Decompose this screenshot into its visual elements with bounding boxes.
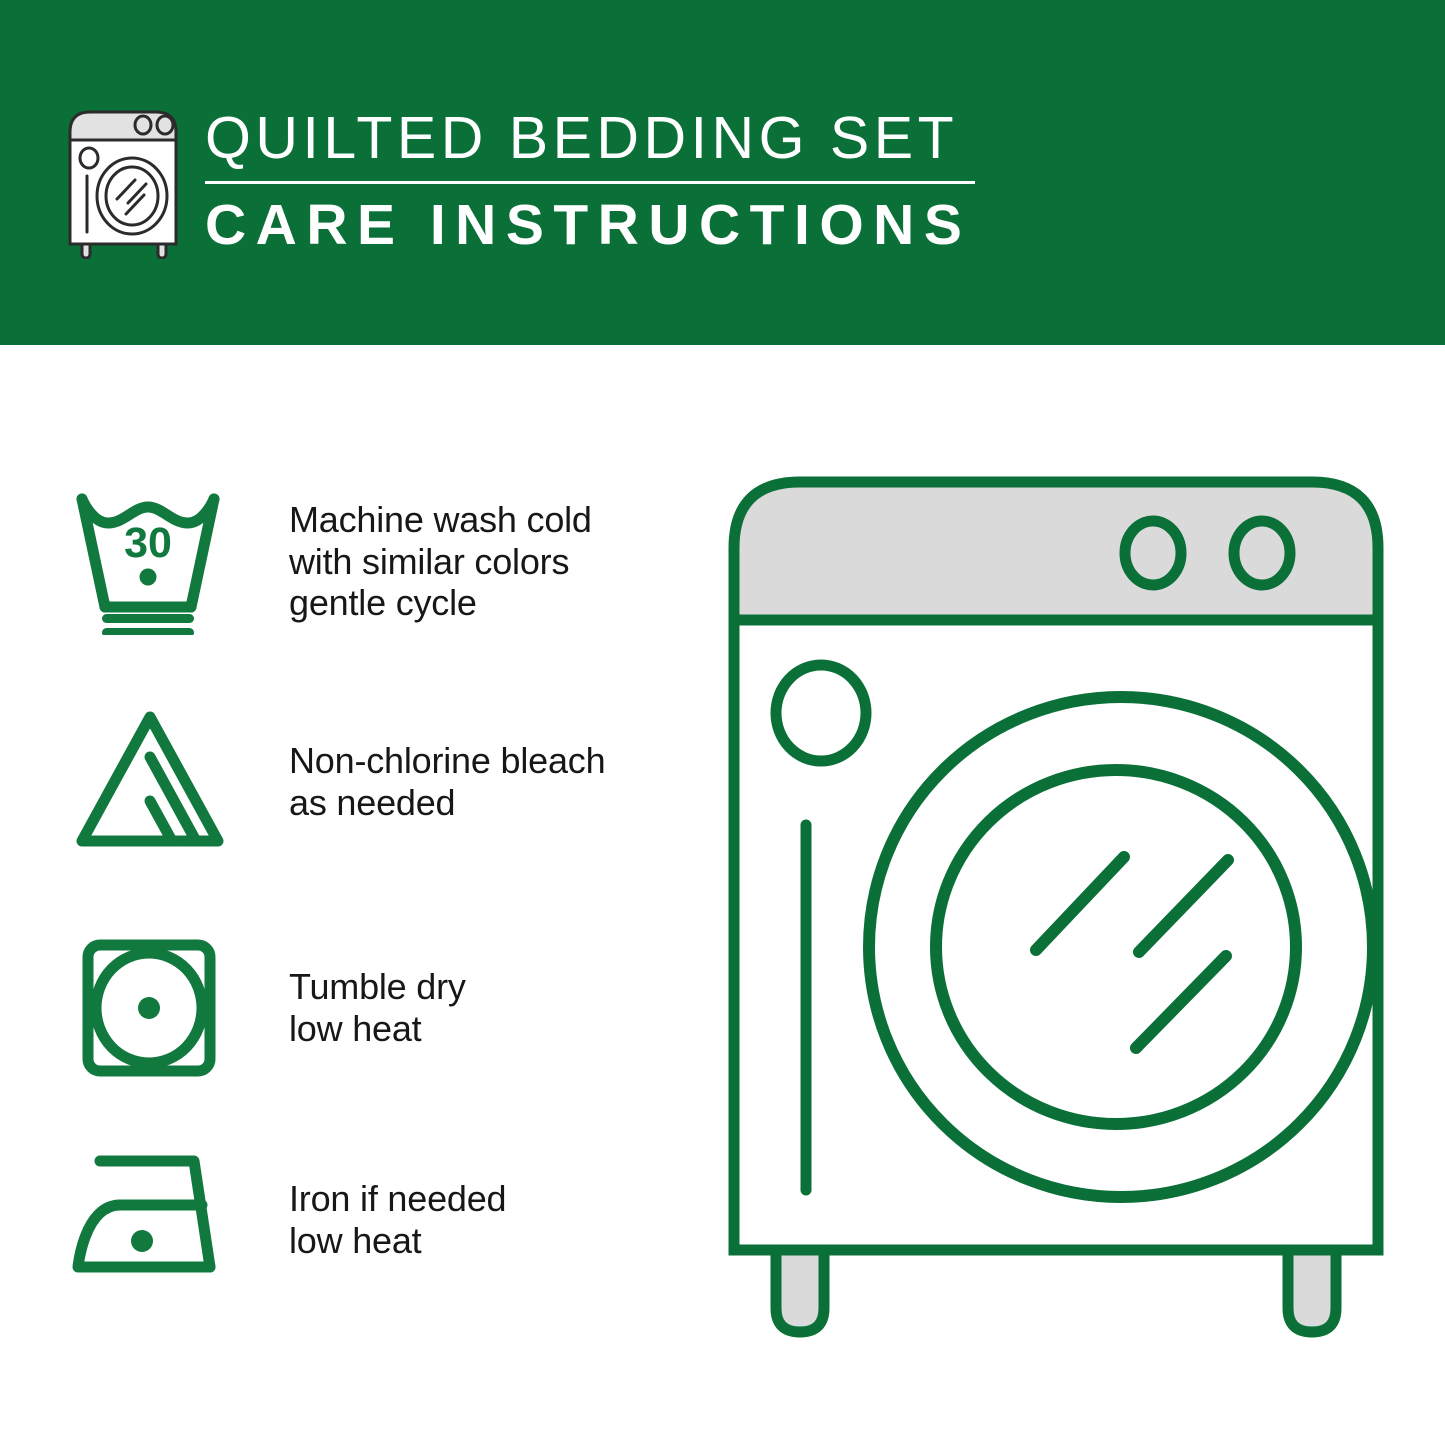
header-text-block: QUILTED BEDDING SET CARE INSTRUCTIONS [205,105,995,258]
care-row-tumble-dry: Tumble dry low heat [0,933,700,1148]
care-row-bleach: Non-chlorine bleach as needed [0,705,700,920]
header-band: QUILTED BEDDING SET CARE INSTRUCTIONS [0,0,1445,345]
washing-machine-illustration [716,470,1396,1360]
care-label-bleach: Non-chlorine bleach as needed [289,740,605,823]
wash-temperature-label: 30 [124,519,172,567]
page-title: QUILTED BEDDING SET [205,105,995,171]
care-row-machine-wash: 30 Machine wash cold with similar colors… [0,485,700,700]
iron-icon [72,1145,232,1295]
washing-machine-icon [62,104,192,259]
care-label-iron: Iron if needed low heat [289,1178,506,1261]
care-instructions-card: QUILTED BEDDING SET CARE INSTRUCTIONS 30 [0,0,1445,1445]
care-row-iron: Iron if needed low heat [0,1145,700,1360]
care-label-machine-wash: Machine wash cold with similar colors ge… [289,499,592,624]
triangle-bleach-icon [72,705,232,855]
tumble-dry-icon [72,933,232,1083]
title-divider [205,181,975,184]
care-label-tumble-dry: Tumble dry low heat [289,966,466,1049]
care-instruction-list: 30 Machine wash cold with similar colors… [0,345,700,1445]
page-subtitle: CARE INSTRUCTIONS [205,192,995,258]
wash-tub-30-icon: 30 [72,485,232,635]
